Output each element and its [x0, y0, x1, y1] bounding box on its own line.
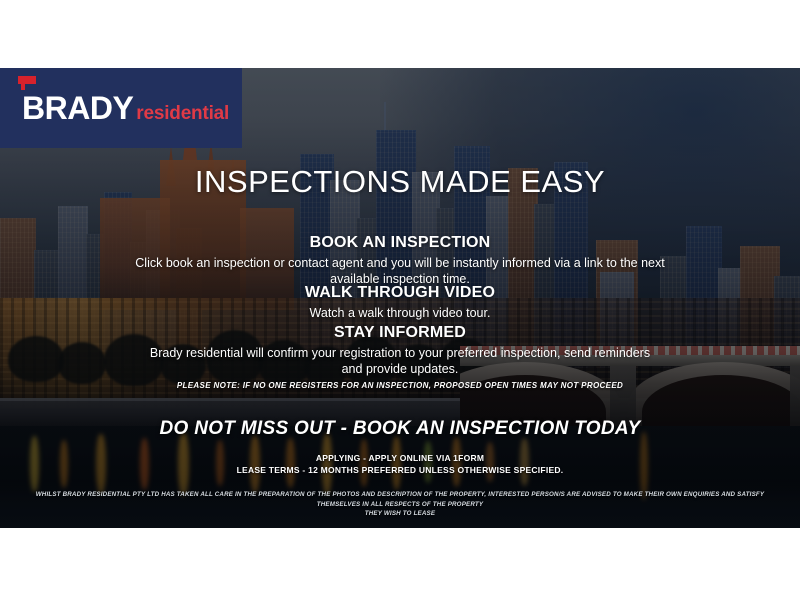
applying-line1: APPLYING - APPLY ONLINE VIA 1FORM: [0, 452, 800, 464]
section-body-line2: and provide updates.: [0, 361, 800, 377]
section-book-an-inspection: BOOK AN INSPECTION Click book an inspect…: [0, 234, 800, 287]
text-overlay: INSPECTIONS MADE EASY BOOK AN INSPECTION…: [0, 68, 800, 528]
applying-info: APPLYING - APPLY ONLINE VIA 1FORM LEASE …: [0, 452, 800, 477]
section-body-line1: Click book an inspection or contact agen…: [0, 255, 800, 271]
section-body-line1: Watch a walk through video tour.: [0, 305, 800, 321]
legal-disclaimer: WHILST BRADY RESIDENTIAL PTY LTD HAS TAK…: [0, 490, 800, 519]
section-title: BOOK AN INSPECTION: [0, 234, 800, 252]
page-title: INSPECTIONS MADE EASY: [0, 164, 800, 200]
call-to-action-text: DO NOT MISS OUT - BOOK AN INSPECTION TOD…: [0, 418, 800, 440]
disclaimer-line1: WHILST BRADY RESIDENTIAL PTY LTD HAS TAK…: [14, 490, 786, 509]
section-title: WALK THROUGH VIDEO: [0, 284, 800, 302]
section-title: STAY INFORMED: [0, 324, 800, 342]
please-note-text: PLEASE NOTE: IF NO ONE REGISTERS FOR AN …: [0, 381, 800, 390]
promotional-banner: BRADY residential INSPECTIONS MADE EASY …: [0, 0, 800, 600]
section-walk-through-video: WALK THROUGH VIDEO Watch a walk through …: [0, 284, 800, 321]
disclaimer-line2: THEY WISH TO LEASE: [14, 509, 786, 519]
section-body-line1: Brady residential will confirm your regi…: [0, 345, 800, 361]
section-stay-informed: STAY INFORMED Brady residential will con…: [0, 324, 800, 377]
applying-line2: LEASE TERMS - 12 MONTHS PREFERRED UNLESS…: [0, 464, 800, 476]
